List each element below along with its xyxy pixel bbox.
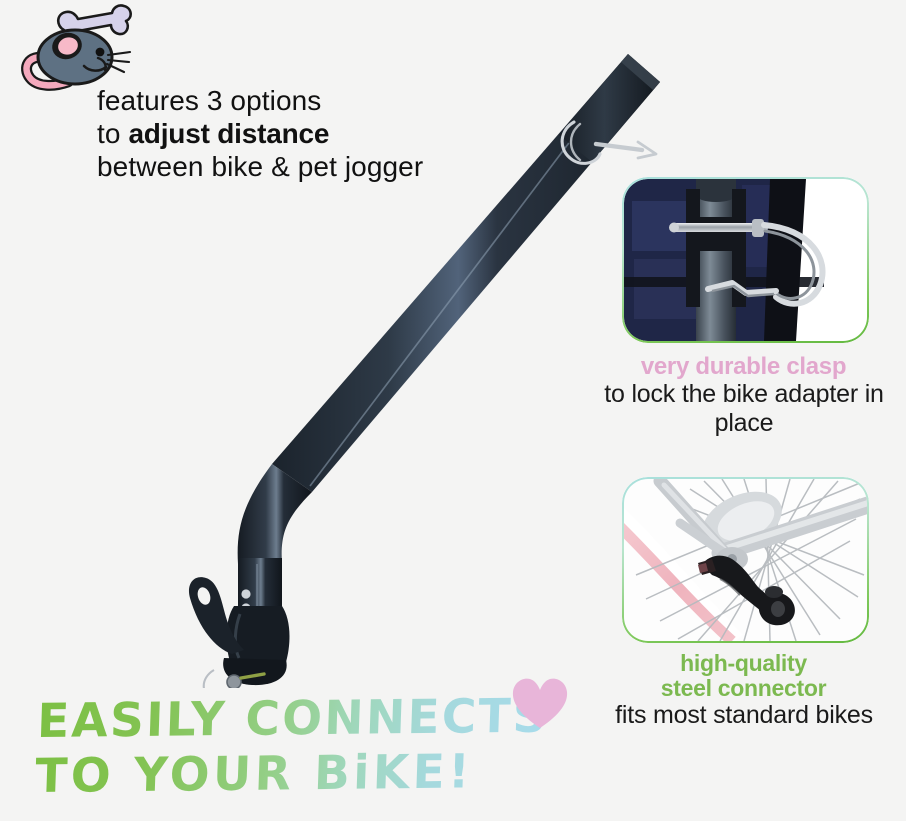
bike-adapter-illustration [160, 18, 700, 688]
bottom-headline: EASILY CONNECTS TO YOUR BiKE! [34, 689, 558, 804]
clasp-subtext: to lock the bike adapter in place [584, 380, 904, 438]
card-caption-clasp: very durable clasp to lock the bike adap… [620, 353, 867, 438]
steel-connector-photo [624, 479, 867, 641]
bike-adapter-bar-product-photo [160, 18, 700, 688]
connector-photo-illustration [624, 479, 867, 641]
connector-heading-line-1: high-quality [620, 651, 867, 676]
clasp-heading: very durable clasp [620, 353, 867, 380]
card-frame-clasp [622, 177, 869, 343]
mouse-with-bone-logo [12, 2, 140, 94]
feature-card-clasp: very durable clasp to lock the bike adap… [622, 177, 869, 438]
connector-subtext: fits most standard bikes [579, 701, 906, 730]
headline-line-1: EASILY CONNECTS [36, 689, 558, 749]
headline-line-2: TO YOUR BiKE! [34, 744, 556, 804]
infographic-page: features 3 options to adjust distance be… [0, 0, 906, 821]
clasp-photo-illustration [624, 179, 867, 341]
mouse-with-bone-icon [12, 2, 140, 94]
adapter-collar [227, 606, 290, 662]
card-caption-connector: high-quality steel connector fits most s… [620, 651, 867, 730]
durable-clasp-photo [624, 179, 867, 341]
feature-line-2-prefix: to [97, 118, 128, 149]
heart-shape [511, 676, 569, 730]
connector-heading-line-2: steel connector [620, 676, 867, 701]
card-frame-connector [622, 477, 869, 643]
heart-icon [511, 676, 569, 730]
feature-card-connector: high-quality steel connector fits most s… [622, 477, 869, 730]
